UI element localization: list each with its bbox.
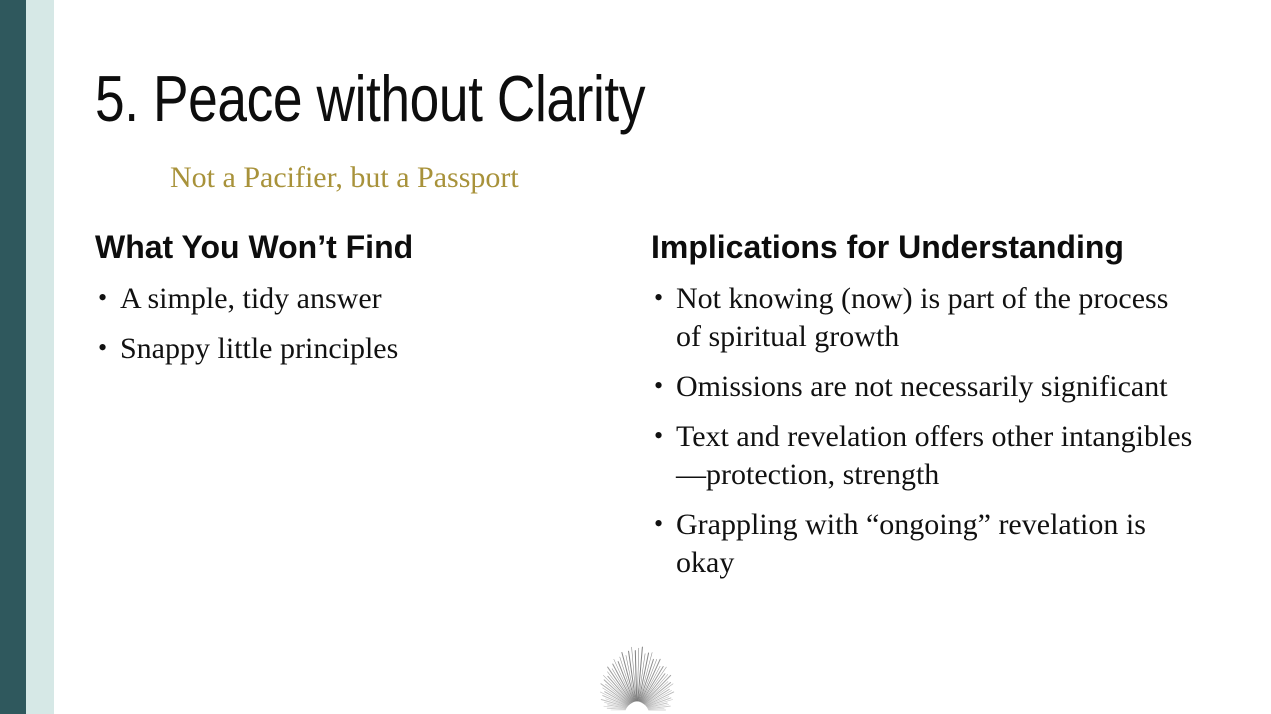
list-item: Text and revelation offers other intangi… [651,418,1196,494]
slide-subtitle: Not a Pacifier, but a Passport [170,160,519,196]
left-accent-bar-mint [26,0,54,714]
slide-canvas: 5. Peace without Clarity Not a Pacifier,… [0,0,1271,714]
list-item: Grappling with “ongoing” revelation is o… [651,506,1196,582]
list-item: Snappy little principles [95,330,635,368]
bullet-list-left: A simple, tidy answer Snappy little prin… [95,280,635,368]
bullet-list-right: Not knowing (now) is part of the process… [651,280,1196,582]
content-column-right: Implications for Understanding Not knowi… [651,228,1196,594]
left-accent-bar-dark [0,0,26,714]
content-column-left: What You Won’t Find A simple, tidy answe… [95,228,635,380]
column-heading-implications-for-understanding: Implications for Understanding [651,228,1196,266]
list-item: A simple, tidy answer [95,280,635,318]
sunburst-rays-icon [577,636,697,714]
column-heading-what-you-wont-find: What You Won’t Find [95,228,635,266]
slide-title: 5. Peace without Clarity [95,64,645,134]
list-item: Not knowing (now) is part of the process… [651,280,1196,356]
list-item: Omissions are not necessarily significan… [651,368,1196,406]
